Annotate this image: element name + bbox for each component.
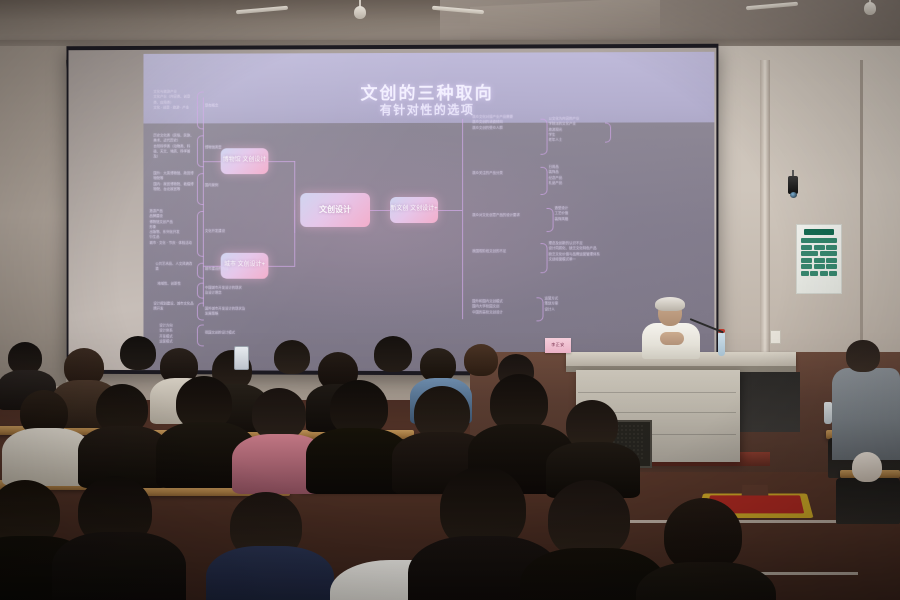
phone xyxy=(234,346,249,370)
presenter-hair xyxy=(655,297,685,311)
wall-seam xyxy=(860,60,863,360)
camera-lens-icon xyxy=(790,192,797,198)
slide-light-veil xyxy=(143,52,714,372)
attendee-shoulders xyxy=(52,532,186,600)
attendee-shoulders xyxy=(206,546,334,600)
projected-slide: 文创的三种取向 有针对性的选项 文创设计 新文创 文创设计+ 博物馆 文创设计 xyxy=(143,52,714,372)
wall-conduit-pipe xyxy=(760,60,770,360)
ceiling-fan-icon xyxy=(790,0,900,20)
safety-notice-board xyxy=(796,224,842,294)
attendee-head xyxy=(420,348,456,382)
attendee-head xyxy=(120,336,156,370)
attendee-head xyxy=(548,480,630,558)
attendee-head xyxy=(664,498,742,572)
attendee-head xyxy=(374,336,412,372)
attendee-head xyxy=(252,388,306,440)
attendee-head xyxy=(464,344,498,376)
ceiling-fan-icon xyxy=(280,0,440,24)
audience xyxy=(0,330,900,600)
attendee-head xyxy=(274,340,310,374)
attendee-shoulders xyxy=(636,562,776,600)
lecture-hall-photo: 文创的三种取向 有针对性的选项 文创设计 新文创 文创设计+ 博物馆 文创设计 xyxy=(0,0,900,600)
projection-screen: 文创的三种取向 有针对性的选项 文创设计 新文创 文创设计+ 博物馆 文创设计 xyxy=(67,44,719,377)
